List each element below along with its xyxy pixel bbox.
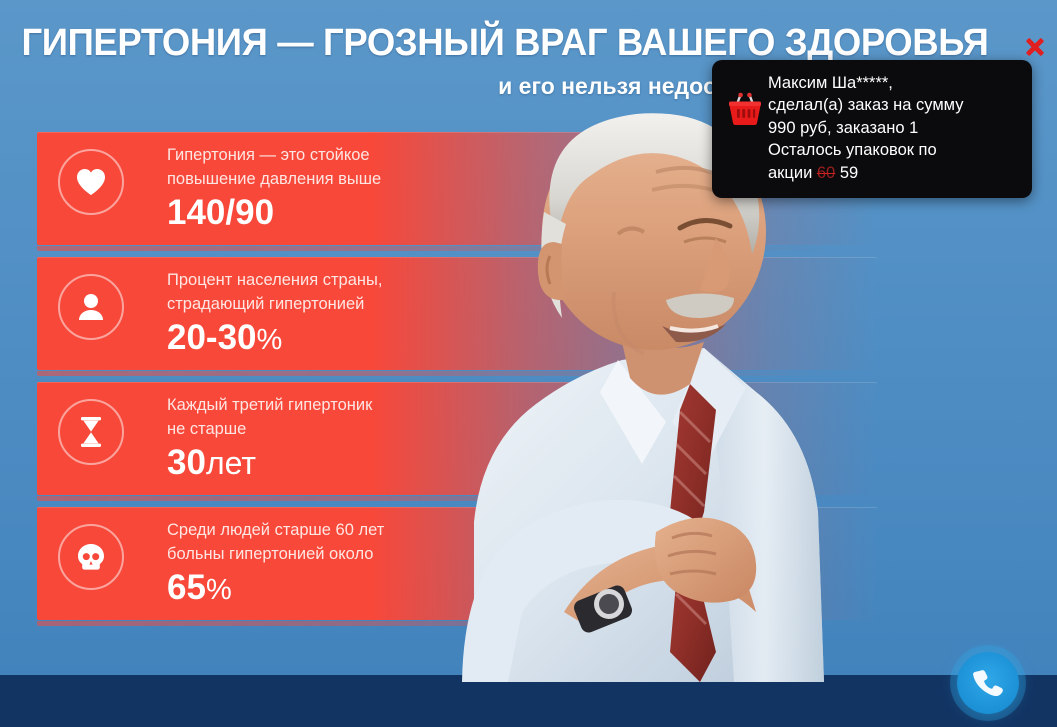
toast-line-stock-count: акции 60 59 <box>768 162 1018 184</box>
call-widget-button[interactable] <box>957 652 1019 714</box>
stat-value-number: 20-30 <box>167 318 257 357</box>
page-title: ГИПЕРТОНИЯ — ГРОЗНЫЙ ВРАГ ВАШЕГО ЗДОРОВЬ… <box>20 0 990 64</box>
toast-line-customer: Максим Ша*****, <box>768 72 1018 94</box>
stat-value-number: 65 <box>167 568 206 607</box>
stat-value-percent: % <box>257 324 283 356</box>
stat-value-percent: % <box>206 574 232 606</box>
order-notification-text: Максим Ша*****, сделал(а) заказ на сумму… <box>768 72 1018 184</box>
stat-value-number: 30 <box>167 443 206 482</box>
toast-line-amount: 990 руб, заказано 1 <box>768 117 1018 139</box>
heart-icon <box>58 149 124 215</box>
toast-line-stock-label: Осталось упаковок по <box>768 139 1018 161</box>
phone-icon <box>973 668 1003 698</box>
stat-value-unit: лет <box>206 445 256 481</box>
order-notification-toast[interactable]: Максим Ша*****, сделал(а) заказ на сумму… <box>712 60 1032 198</box>
toast-line-order: сделал(а) заказ на сумму <box>768 94 1018 116</box>
close-button[interactable] <box>1023 35 1047 59</box>
bottom-bar <box>0 675 1057 727</box>
landing-page: Гипертония — это стойкое повышение давле… <box>0 0 1057 727</box>
stat-value-number: 140/90 <box>167 193 274 232</box>
close-icon <box>1025 37 1045 57</box>
person-icon <box>58 274 124 340</box>
hourglass-icon <box>58 399 124 465</box>
toast-stock-new: 59 <box>835 164 858 182</box>
shopping-basket-icon <box>722 72 768 126</box>
toast-stock-prefix: акции <box>768 164 817 182</box>
toast-stock-old: 60 <box>817 164 835 182</box>
skull-icon <box>58 524 124 590</box>
